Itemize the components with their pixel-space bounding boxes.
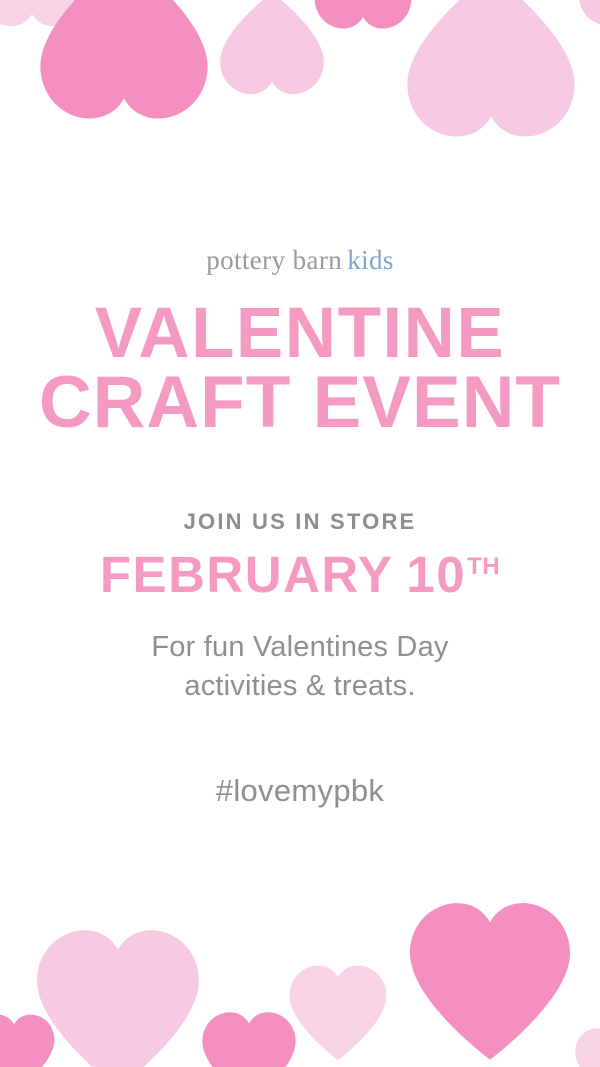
brand-name-secondary: kids xyxy=(347,245,394,275)
page-title: VALENTINE CRAFT EVENT xyxy=(39,300,561,438)
event-date: FEBRUARY10TH xyxy=(100,549,500,600)
headline-line-2: CRAFT EVENT xyxy=(39,368,561,438)
join-us-subheading: JOIN US IN STORE xyxy=(184,511,417,533)
event-description-line-2: activities & treats. xyxy=(151,667,448,706)
flyer-content: pottery barnkids VALENTINE CRAFT EVENT J… xyxy=(0,0,600,1067)
event-day: 10 xyxy=(406,546,466,603)
brand-name-primary: pottery barn xyxy=(206,245,342,275)
event-description: For fun Valentines Day activities & trea… xyxy=(151,628,448,705)
valentine-craft-event-flyer: pottery barnkids VALENTINE CRAFT EVENT J… xyxy=(0,0,600,1067)
social-hashtag: #lovemypbk xyxy=(216,775,384,806)
brand-logo: pottery barnkids xyxy=(206,247,394,274)
event-description-line-1: For fun Valentines Day xyxy=(151,628,448,667)
headline-line-1: VALENTINE xyxy=(39,300,561,368)
event-month: FEBRUARY xyxy=(100,546,393,603)
event-day-ordinal: TH xyxy=(467,553,500,580)
